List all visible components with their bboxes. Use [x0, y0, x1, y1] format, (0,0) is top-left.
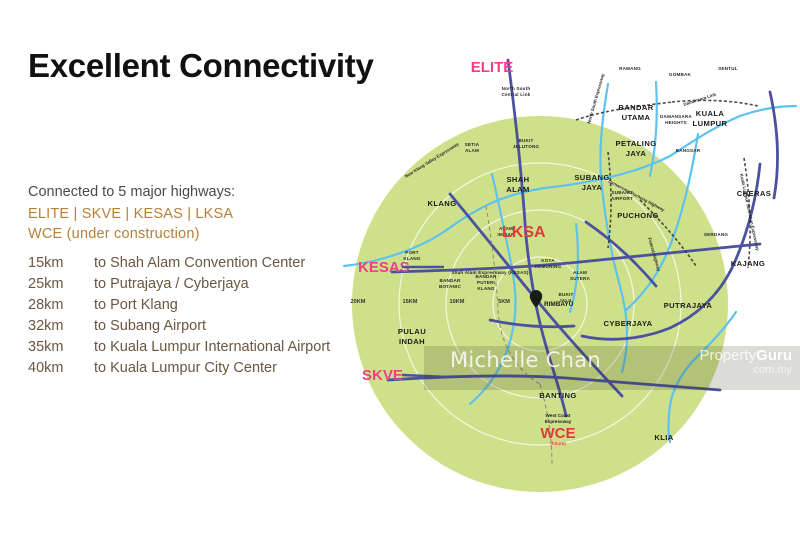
distance-value: 28km — [28, 295, 94, 316]
town-label-cyberjaya: CYBERJAYA — [603, 319, 652, 328]
watermark-agent-name: Michelle Chan — [450, 348, 601, 372]
highway-callout-lksa: LKSA — [502, 224, 546, 241]
highway-list-line-1: ELITE | SKVE | KESAS | LKSA — [28, 204, 388, 224]
distance-list: 15km to Shah Alam Convention Center 25km… — [28, 253, 388, 379]
small-label-damansara-heights: DAMANSARA — [660, 114, 692, 119]
small-label-serdang: SERDANG — [704, 232, 729, 237]
small-label-north-south-link-2: Central Link — [502, 92, 531, 97]
road-label-damansara-link: Damansara Link — [683, 92, 717, 107]
small-label-bukit-jelutong: BUKIT — [518, 138, 533, 143]
highway-callout-wce: WCE — [541, 425, 576, 442]
small-label-bandar-botanic-2: BOTANIC — [439, 284, 461, 289]
town-label-kajang: KAJANG — [731, 259, 765, 268]
town-label-bandar-utama: BANDAR — [618, 103, 653, 112]
town-label-bandar-utama-2: UTAMA — [622, 113, 651, 122]
distance-destination: to Kuala Lumpur City Center — [94, 358, 277, 379]
town-label-subang-jaya: SUBANG — [574, 173, 609, 182]
small-label-kota-kemuning-2: KEMUNING — [535, 264, 562, 269]
distance-value: 35km — [28, 337, 94, 358]
town-label-pulau-indah-2: INDAH — [399, 337, 425, 346]
small-label-damansara-heights-2: HEIGHTS — [665, 120, 687, 125]
distance-row: 28km to Port Klang — [28, 295, 388, 316]
watermark-propertyguru-logo: PropertyGuru .com.my — [699, 348, 792, 376]
town-label-putrajaya: PUTRAJAYA — [664, 301, 713, 310]
small-label-bukit-jalil: BUKIT — [558, 292, 573, 297]
small-label-setia-alam: SETIA — [465, 142, 480, 147]
watermark-brand-domain: .com.my — [699, 365, 792, 376]
watermark-brand-property: Property — [699, 347, 756, 364]
distance-row: 40km to Kuala Lumpur City Center — [28, 358, 388, 379]
small-label-bangsar: BANGSAR — [676, 148, 701, 153]
highway-callout-elite: ELITE — [471, 59, 514, 76]
small-label-bandar-puteri-2: PUTERI — [477, 280, 495, 285]
distance-destination: to Kuala Lumpur International Airport — [94, 337, 330, 358]
wce-sub-top-2: Expressway — [545, 419, 572, 424]
intro-lead: Connected to 5 major highways: — [28, 182, 388, 202]
small-label-bandar-puteri-3: KLANG — [477, 286, 495, 291]
watermark-brand-guru: Guru — [756, 347, 792, 364]
town-label-klang: KLANG — [428, 199, 457, 208]
town-label-klia: KLIA — [654, 433, 673, 442]
slide-root: Excellent Connectivity Connected to 5 ma… — [0, 0, 800, 552]
connectivity-map: KLANG SHAH ALAM SUBANG JAYA PETALING JAY… — [340, 24, 800, 504]
distance-value: 15km — [28, 253, 94, 274]
distance-row: 35km to Kuala Lumpur International Airpo… — [28, 337, 388, 358]
town-label-shah-alam: SHAH — [506, 175, 529, 184]
small-label-rawang: RAWANG — [619, 66, 641, 71]
distance-value: 40km — [28, 358, 94, 379]
small-label-setia-alam-2: ALAM — [465, 148, 479, 153]
small-label-kota-kemuning: KOTA — [541, 258, 555, 263]
small-label-shah-alam-expressway: Shah Alam Expressway (KESAS) — [451, 270, 528, 275]
town-label-petaling-jaya-2: JAYA — [626, 149, 647, 158]
ring-label-5km: 5KM — [498, 299, 510, 305]
highway-list-line-2: WCE (under construction) — [28, 224, 388, 244]
small-label-sentul: SENTUL — [718, 66, 738, 71]
distance-destination: to Putrajaya / Cyberjaya — [94, 274, 249, 295]
ring-label-15km: 15KM — [403, 299, 418, 305]
small-label-bandar-botanic: BANDAR — [439, 278, 461, 283]
center-label: RIMBAYU — [544, 301, 574, 308]
town-label-shah-alam-2: ALAM — [506, 185, 530, 194]
distance-row: 25km to Putrajaya / Cyberjaya — [28, 274, 388, 295]
distance-destination: to Subang Airport — [94, 316, 206, 337]
town-label-pulau-indah: PULAU — [398, 327, 426, 336]
small-label-bukit-jelutong-2: JELUTONG — [513, 144, 540, 149]
town-label-petaling-jaya: PETALING — [615, 139, 656, 148]
distance-row: 15km to Shah Alam Convention Center — [28, 253, 388, 274]
small-label-alam-sutera: ALAM — [573, 270, 587, 275]
highway-callout-kesas: KESAS — [358, 259, 410, 276]
distance-destination: to Port Klang — [94, 295, 178, 316]
wce-sub-top: West Coast — [546, 413, 571, 418]
small-label-gombak: GOMBAK — [669, 72, 692, 77]
small-label-alam-sutera-2: SUTERA — [570, 276, 591, 281]
small-label-subang-airport-2: AIRPORT — [611, 196, 633, 201]
ring-label-20km: 20KM — [351, 299, 366, 305]
small-label-port-klang: PORT — [405, 250, 419, 255]
town-label-kuala-lumpur: KUALA — [696, 109, 725, 118]
small-label-north-south-link: North South — [502, 86, 531, 91]
distance-destination: to Shah Alam Convention Center — [94, 253, 305, 274]
distance-value: 32km — [28, 316, 94, 337]
town-label-banting: BANTING — [539, 391, 576, 400]
wce-sub-bottom: (future) — [550, 441, 566, 446]
distance-value: 25km — [28, 274, 94, 295]
watermark-brand-line: PropertyGuru — [699, 347, 792, 364]
highways-intro: Connected to 5 major highways: ELITE | S… — [28, 182, 388, 244]
distance-row: 32km to Subang Airport — [28, 316, 388, 337]
town-label-cheras: CHERAS — [737, 189, 771, 198]
highway-callout-skve: SKVE — [362, 367, 403, 384]
town-label-kuala-lumpur-2: LUMPUR — [693, 119, 728, 128]
town-label-subang-jaya-2: JAYA — [582, 183, 603, 192]
town-label-puchong: PUCHONG — [617, 211, 659, 220]
ring-label-10km: 10KM — [450, 299, 465, 305]
